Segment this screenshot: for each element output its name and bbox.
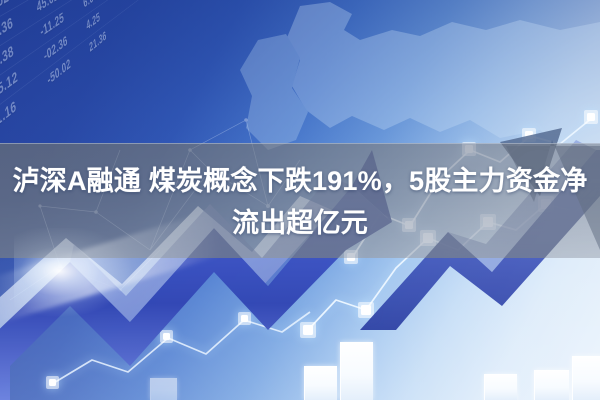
bar-column	[484, 374, 517, 400]
bar-column	[304, 366, 337, 400]
page-title: 泸深A融通 煤炭概念下跌191%，5股主力资金净流出超亿元	[0, 160, 600, 244]
bar-column	[150, 378, 177, 400]
bar-column	[340, 342, 373, 400]
bar-column	[534, 370, 569, 400]
headline-band-divider	[0, 143, 600, 144]
news-thumbnail: -02.36 21.36 45.02 8.11 -11.25 -50.02 4.…	[0, 0, 600, 400]
bar-column	[572, 356, 600, 400]
